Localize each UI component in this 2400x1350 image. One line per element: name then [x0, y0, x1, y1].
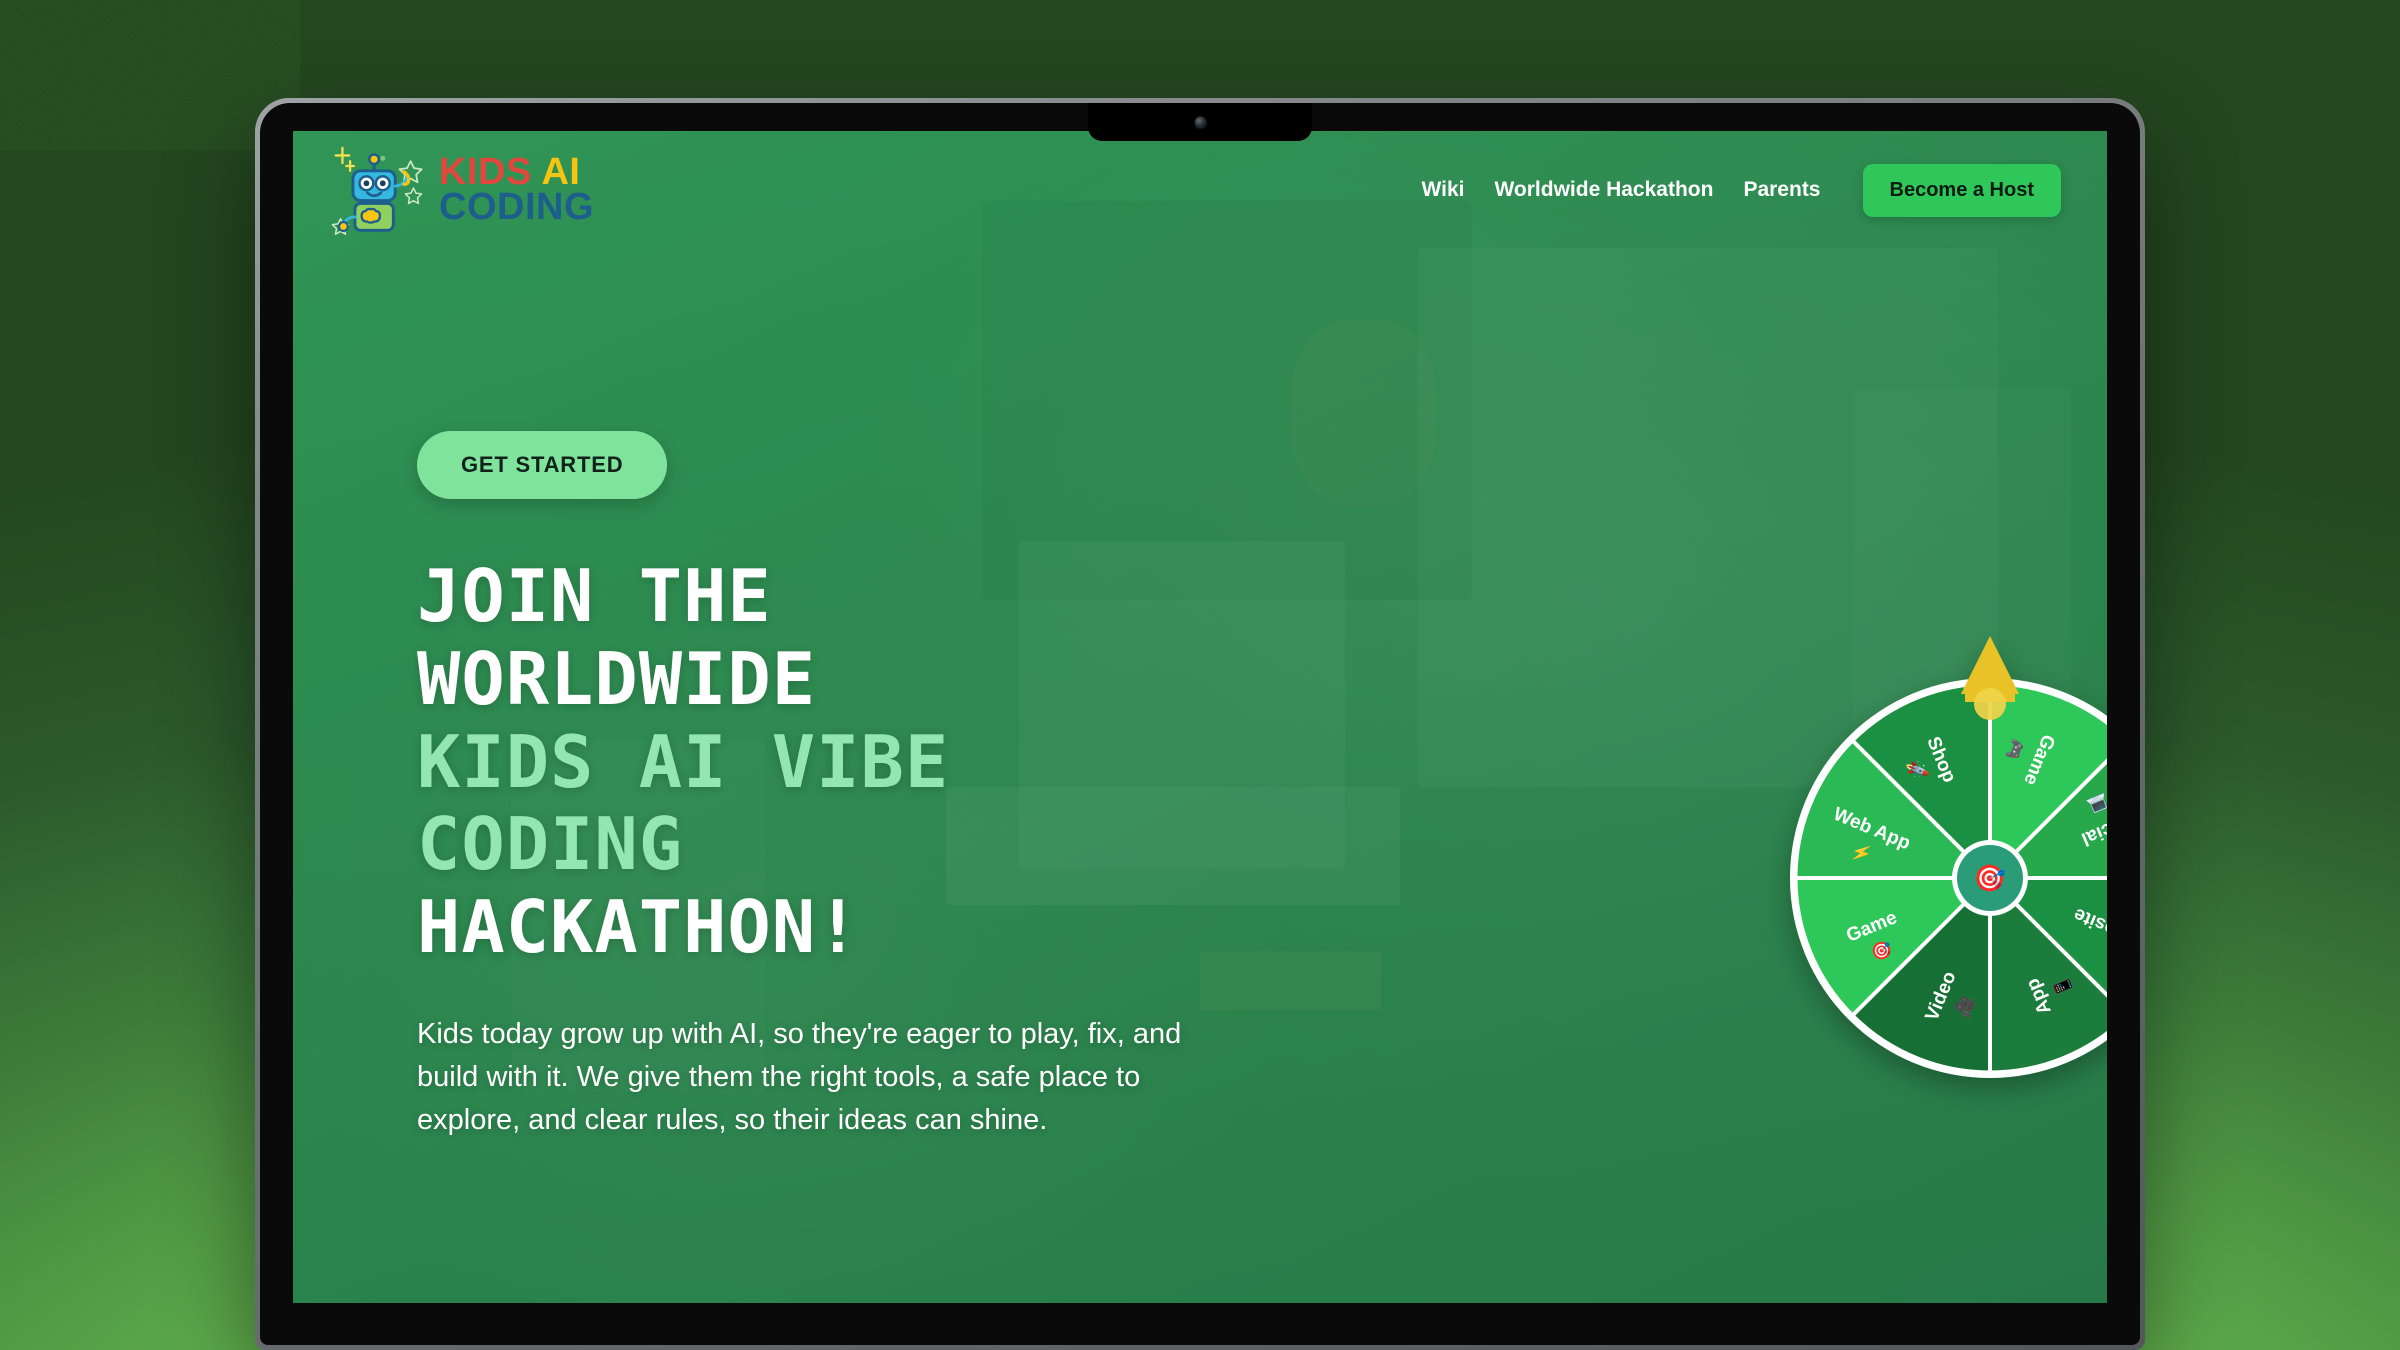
site-logo[interactable]: KIDS AI CODING [329, 142, 594, 238]
headline-line-4: CODING [417, 803, 1237, 886]
webcam-icon [1195, 117, 1206, 128]
spinner-wheel[interactable]: Game🎮Social💻Website🌐App📱Video🎥Game🎯Web A… [1730, 618, 2107, 1138]
hero-paragraph: Kids today grow up with AI, so they're e… [417, 1013, 1217, 1142]
nav-link-worldwide-hackathon[interactable]: Worldwide Hackathon [1494, 178, 1713, 202]
dart-target-icon: 🎯 [1974, 863, 2006, 893]
hero-section: GET STARTED JOIN THE WORLDWIDE KIDS AI V… [417, 431, 1237, 1142]
main-navigation: Wiki Worldwide Hackathon Parents Become … [1421, 164, 2061, 217]
site-header: KIDS AI CODING Wiki Worldwide Hackathon … [293, 131, 2107, 249]
robot-mascot-icon [329, 142, 425, 238]
page-content: KIDS AI CODING Wiki Worldwide Hackathon … [293, 131, 2107, 1303]
get-started-button[interactable]: GET STARTED [417, 431, 667, 499]
laptop-lid: KIDS AI CODING Wiki Worldwide Hackathon … [255, 98, 2145, 1350]
nav-link-parents[interactable]: Parents [1743, 178, 1820, 202]
laptop-device: KIDS AI CODING Wiki Worldwide Hackathon … [255, 98, 2145, 1350]
page-backdrop: KIDS AI CODING Wiki Worldwide Hackathon … [0, 0, 2400, 1350]
headline-line-2: WORLDWIDE [417, 638, 1237, 721]
hero-headline: JOIN THE WORLDWIDE KIDS AI VIBE CODING H… [417, 555, 1237, 969]
laptop-notch [1088, 103, 1312, 141]
logo-line-2: CODING [439, 190, 594, 225]
laptop-bezel: KIDS AI CODING Wiki Worldwide Hackathon … [260, 103, 2140, 1345]
headline-line-5: HACKATHON! [417, 886, 1237, 969]
headline-line-3: KIDS AI VIBE [417, 721, 1237, 804]
wheel-svg[interactable]: Game🎮Social💻Website🌐App📱Video🎥Game🎯Web A… [1730, 618, 2107, 1138]
logo-wordmark: KIDS AI CODING [439, 155, 594, 225]
laptop-screen: KIDS AI CODING Wiki Worldwide Hackathon … [293, 131, 2107, 1303]
headline-line-1: JOIN THE [417, 555, 1237, 638]
become-a-host-button[interactable]: Become a Host [1863, 164, 2062, 217]
logo-line-1: KIDS AI [439, 155, 594, 190]
nav-link-wiki[interactable]: Wiki [1421, 178, 1464, 202]
